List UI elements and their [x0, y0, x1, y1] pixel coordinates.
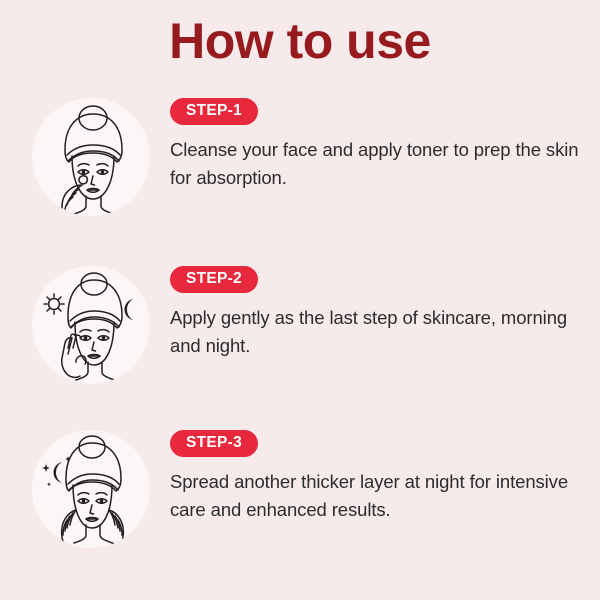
step-1-text: Cleanse your face and apply toner to pre… — [170, 136, 580, 192]
moon-icon — [125, 299, 134, 320]
step-3-content: STEP-3 Spread another thicker layer at n… — [170, 430, 580, 524]
moon-icon — [54, 462, 63, 483]
step-2-badge: STEP-2 — [170, 266, 258, 293]
nose — [91, 176, 95, 185]
eyebrow-right — [98, 330, 109, 332]
pupil-left — [82, 499, 86, 503]
step-1-badge: STEP-1 — [170, 98, 258, 125]
eyebrow-right — [97, 164, 108, 166]
hair-towel — [66, 443, 121, 491]
hair-towel — [65, 114, 122, 162]
neck-right — [101, 196, 116, 215]
step-2-text: Apply gently as the last step of skincar… — [170, 304, 580, 360]
hair-bun — [81, 273, 107, 295]
step-3-illustration — [32, 430, 150, 548]
hair-bun — [79, 106, 107, 130]
sun-icon — [44, 294, 64, 314]
step-row: STEP-1 Cleanse your face and apply toner… — [0, 98, 600, 218]
nose — [92, 342, 96, 351]
pupil-right — [100, 499, 104, 503]
pupil-right — [101, 170, 105, 174]
eyebrow-right — [96, 493, 107, 495]
step-row: STEP-2 Apply gently as the last step of … — [0, 266, 600, 386]
pupil-right — [102, 336, 106, 340]
eyebrow-left — [80, 330, 91, 332]
neck-right — [102, 362, 117, 381]
step-3-badge: STEP-3 — [170, 430, 258, 457]
neck-right — [100, 525, 115, 544]
eyebrow-left — [78, 164, 89, 166]
step-3-text: Spread another thicker layer at night fo… — [170, 468, 580, 524]
cream-dab — [79, 176, 87, 184]
hair-bun — [79, 436, 105, 458]
pupil-left — [82, 170, 86, 174]
step-1-illustration — [32, 98, 150, 216]
page-title: How to use — [0, 14, 600, 69]
pupil-left — [84, 336, 88, 340]
hair-towel — [68, 280, 122, 328]
step-1-content: STEP-1 Cleanse your face and apply toner… — [170, 98, 580, 192]
step-row: STEP-3 Spread another thicker layer at n… — [0, 430, 600, 550]
neck-left — [74, 525, 86, 543]
step-2-illustration — [32, 266, 150, 384]
nose — [90, 505, 94, 514]
step-2-content: STEP-2 Apply gently as the last step of … — [170, 266, 580, 360]
how-to-use-infographic: How to use — [0, 0, 600, 600]
neck-left — [74, 196, 86, 214]
eyebrow-left — [78, 493, 89, 495]
